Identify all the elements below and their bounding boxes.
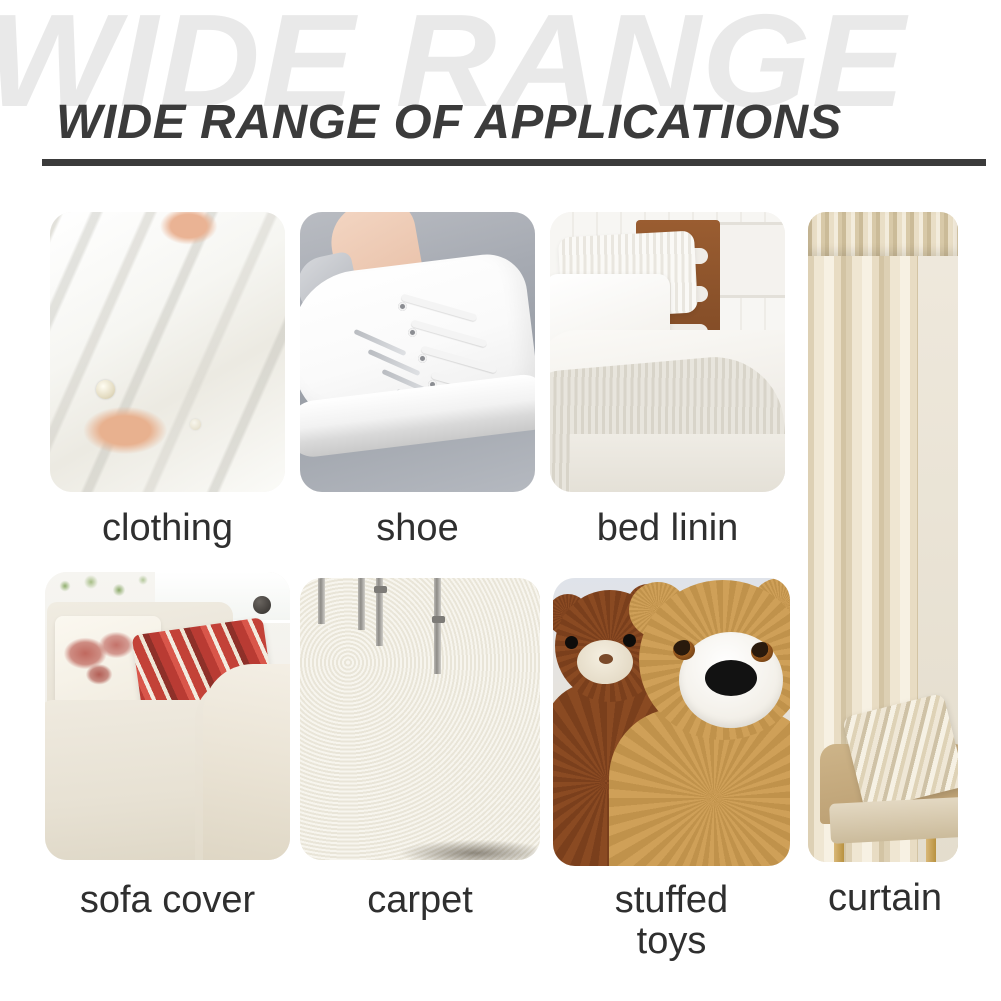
application-label-sofa-cover: sofa cover: [30, 880, 305, 921]
application-label-stuffed-toys: stuffed toys: [553, 880, 790, 962]
tan-bear-eye: [673, 640, 695, 660]
two-teddy-bears-photo: [553, 578, 790, 866]
brown-bear-eye: [623, 634, 636, 647]
floor-shadow: [400, 840, 540, 860]
application-label-bed-linen: bed linin: [550, 508, 785, 549]
white-shirt-clothing-photo: [50, 212, 285, 492]
application-label-clothing: clothing: [50, 508, 285, 549]
application-image-curtain: [808, 212, 958, 862]
application-image-carpet: [300, 578, 540, 860]
beige-pleated-curtain-photo: [808, 212, 958, 862]
bed-skirt: [570, 434, 785, 492]
brown-bear-nose: [599, 654, 613, 664]
cream-shag-carpet-photo: [300, 578, 540, 860]
tan-bear-nose: [705, 660, 757, 696]
header-banner: WIDE RANGE WIDE RANGE OF APPLICATIONS: [0, 0, 1001, 180]
leg-band: [374, 586, 387, 593]
application-image-sofa-cover: [45, 572, 290, 860]
shoe-eyelet: [398, 302, 407, 311]
bed-with-white-linen-photo: [550, 212, 785, 492]
page-title: WIDE RANGE OF APPLICATIONS: [56, 95, 842, 150]
chair-seat: [829, 796, 958, 844]
white-sneaker-photo: [300, 212, 535, 492]
application-label-carpet: carpet: [310, 880, 530, 921]
application-image-stuffed-toys: [553, 578, 790, 866]
sofa-cover-drape: [203, 664, 290, 860]
curtain-knob-icon: [253, 596, 271, 614]
furniture-leg: [358, 578, 365, 630]
shoe-eyelet: [418, 354, 427, 363]
furniture-leg: [434, 578, 441, 674]
tan-bear-eye: [751, 642, 773, 662]
title-underline-rule: [42, 159, 986, 166]
leg-band: [432, 616, 445, 623]
application-label-shoe: shoe: [300, 508, 535, 549]
beige-sofa-cover-photo: [45, 572, 290, 860]
curtain-pleat-header: [808, 212, 958, 256]
furniture-leg: [318, 578, 325, 624]
shirt-button-icon: [190, 419, 201, 430]
application-image-bed-linen: [550, 212, 785, 492]
application-image-clothing: [50, 212, 285, 492]
shirt-button-icon: [96, 380, 115, 399]
brown-bear-eye: [565, 636, 578, 649]
application-image-shoe: [300, 212, 535, 492]
application-label-curtain: curtain: [795, 878, 975, 919]
shoe-eyelet: [408, 328, 417, 337]
